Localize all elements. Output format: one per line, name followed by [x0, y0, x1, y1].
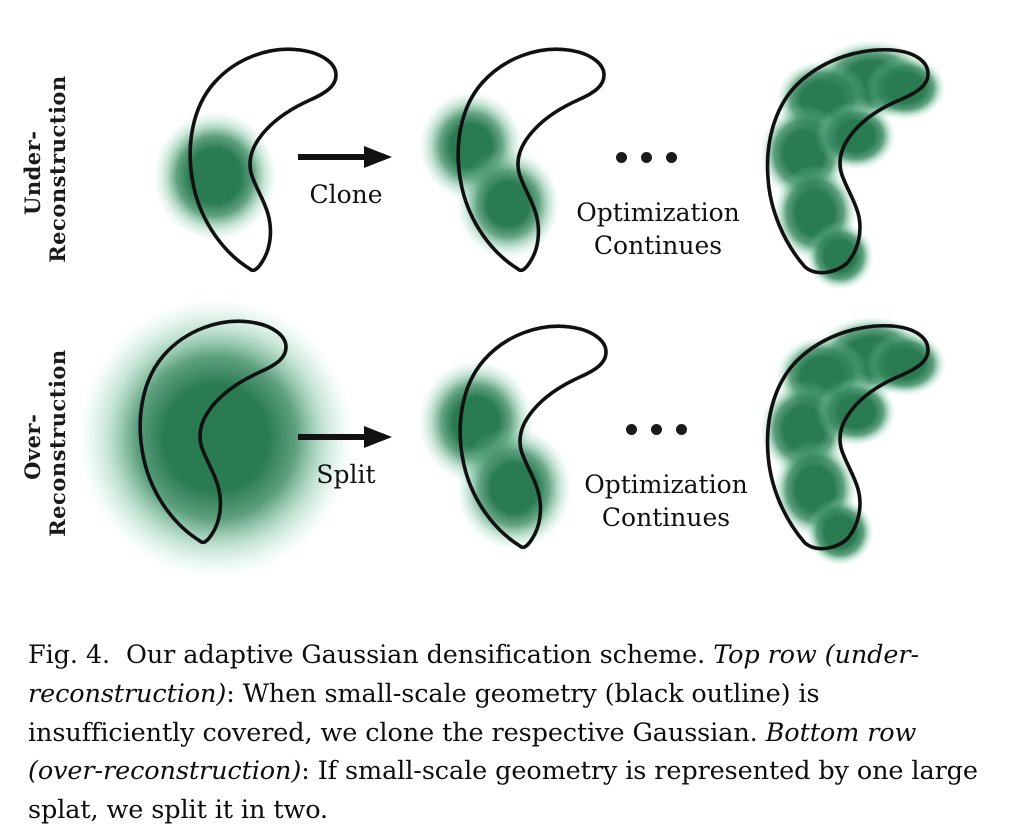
row-label-over-reconstruction: Over- Reconstruction	[21, 357, 71, 537]
optimization-continues-over: Optimization Continues	[566, 468, 766, 534]
ellipsis-over-row	[626, 424, 687, 435]
caption-figure-number: Fig. 4.	[28, 640, 110, 670]
panel-over-after-split	[408, 300, 638, 580]
optimization-line1: Optimization	[558, 196, 758, 229]
gaussian-splat	[806, 498, 874, 566]
optimization-line2: Continues	[558, 229, 758, 262]
panel-over-after-split-svg	[408, 300, 638, 580]
gaussian-splat	[806, 222, 874, 290]
row-label-under-reconstruction: Under- Reconstruction	[21, 83, 71, 263]
figure-caption: Fig. 4. Our adaptive Gaussian densificat…	[28, 636, 990, 830]
panel-under-converged-svg	[760, 28, 1010, 298]
row-label-under-line1: Under-	[21, 83, 46, 263]
row-label-under-line2: Reconstruction	[46, 83, 71, 263]
panel-over-converged-svg	[760, 300, 1010, 580]
gaussian-splat	[816, 102, 896, 170]
clone-label: Clone	[296, 180, 396, 209]
ellipsis-dot	[616, 152, 627, 163]
optimization-line2: Continues	[566, 501, 766, 534]
panel-under-converged	[760, 28, 1010, 298]
arrow-right-icon	[296, 424, 396, 450]
ellipsis-under-row	[616, 152, 677, 163]
ellipsis-dot	[651, 424, 662, 435]
ellipsis-dot	[676, 424, 687, 435]
split-label: Split	[296, 460, 396, 489]
row-label-over-line2: Reconstruction	[46, 357, 71, 537]
figure-diagram: Under- Reconstruction Clone	[0, 0, 1016, 620]
caption-text-1: Our adaptive Gaussian densification sche…	[126, 640, 705, 670]
gaussian-splat	[816, 378, 896, 446]
panel-over-converged	[760, 300, 1010, 580]
gaussian-splat	[153, 111, 277, 241]
gaussian-splat-pair	[418, 360, 572, 550]
split-arrow-group: Split	[296, 424, 396, 489]
row-label-over-line1: Over-	[21, 357, 46, 537]
gaussian-splat	[456, 149, 560, 259]
optimization-line1: Optimization	[566, 468, 766, 501]
ellipsis-dot	[626, 424, 637, 435]
optimization-continues-under: Optimization Continues	[558, 196, 758, 262]
arrow-right-icon	[296, 144, 396, 170]
clone-arrow-group: Clone	[296, 144, 396, 209]
ellipsis-dot	[666, 152, 677, 163]
ellipsis-dot	[641, 152, 652, 163]
